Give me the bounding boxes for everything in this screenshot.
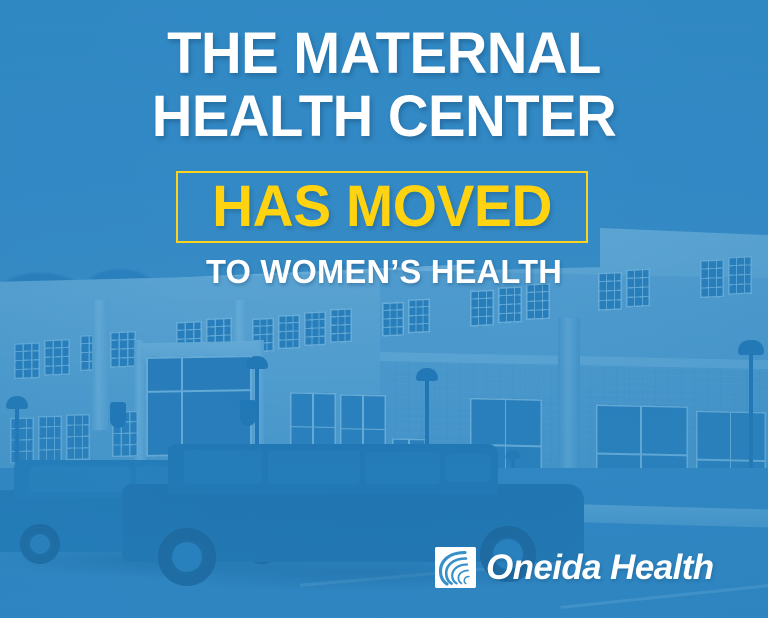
has-moved-label: HAS MOVED xyxy=(182,178,582,236)
oneida-health-logo: Oneida Health xyxy=(435,547,714,588)
page-title: THE MATERNAL HEALTH CENTER xyxy=(12,22,757,148)
subheadline: TO WOMEN’S HEALTH xyxy=(4,255,764,289)
has-moved-callout-box: HAS MOVED xyxy=(176,171,588,243)
oneida-health-wordmark: Oneida Health xyxy=(486,549,714,587)
headline-line-2: HEALTH CENTER xyxy=(12,85,757,148)
poster-content: THE MATERNAL HEALTH CENTER HAS MOVED TO … xyxy=(0,0,768,618)
headline-line-1: THE MATERNAL xyxy=(167,21,601,86)
oneida-health-arcs-icon xyxy=(435,547,476,588)
promo-poster: THE MATERNAL HEALTH CENTER HAS MOVED TO … xyxy=(0,0,768,618)
